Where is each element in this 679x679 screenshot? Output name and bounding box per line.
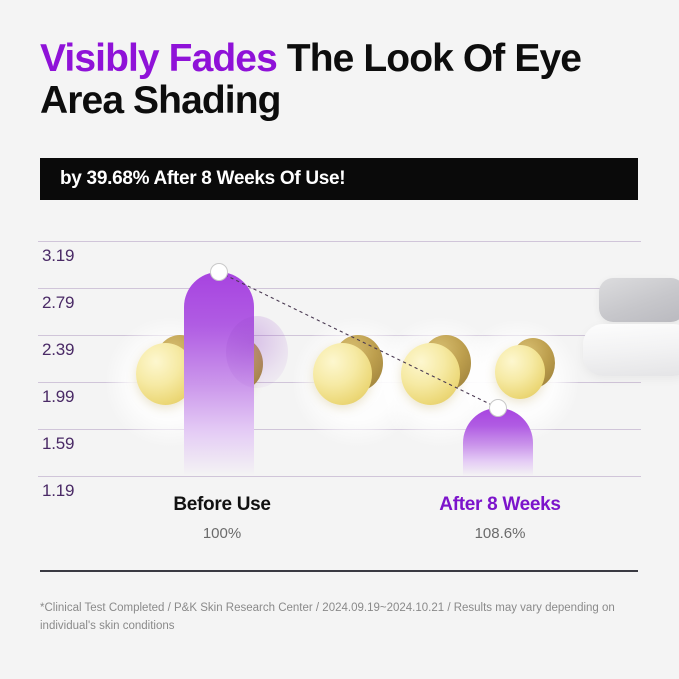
category-percent-before: 100% xyxy=(102,525,342,542)
category-percent-after: 108.6% xyxy=(380,525,620,542)
banner-text: by 39.68% After 8 Weeks Of Use! xyxy=(60,168,345,190)
category-label-before: Before Use xyxy=(102,494,342,516)
data-point-marker-after[interactable] xyxy=(489,399,507,417)
headline-accent: Visibly Fades xyxy=(40,37,277,80)
category-label-after: After 8 Weeks xyxy=(380,494,620,516)
y-tick-label: 1.19 xyxy=(42,481,74,501)
chart-plot-area: 3.19 2.79 2.39 1.99 1.59 1.19 xyxy=(38,241,641,476)
footer-divider xyxy=(40,570,638,572)
category-before-use: Before Use 100% xyxy=(102,494,342,542)
category-after-8-weeks: After 8 Weeks 108.6% xyxy=(380,494,620,542)
highlight-banner: by 39.68% After 8 Weeks Of Use! xyxy=(40,158,638,200)
gridline xyxy=(38,476,641,477)
data-point-marker-before[interactable] xyxy=(210,263,228,281)
bar-chart: 3.19 2.79 2.39 1.99 1.59 1.19 xyxy=(0,228,679,498)
infographic-page: Visibly Fades The Look Of Eye Area Shadi… xyxy=(0,0,679,679)
page-title: Visibly Fades The Look Of Eye Area Shadi… xyxy=(40,38,640,122)
trend-connector-line xyxy=(38,241,641,476)
footnote-text: *Clinical Test Completed / P&K Skin Rese… xyxy=(40,600,620,636)
